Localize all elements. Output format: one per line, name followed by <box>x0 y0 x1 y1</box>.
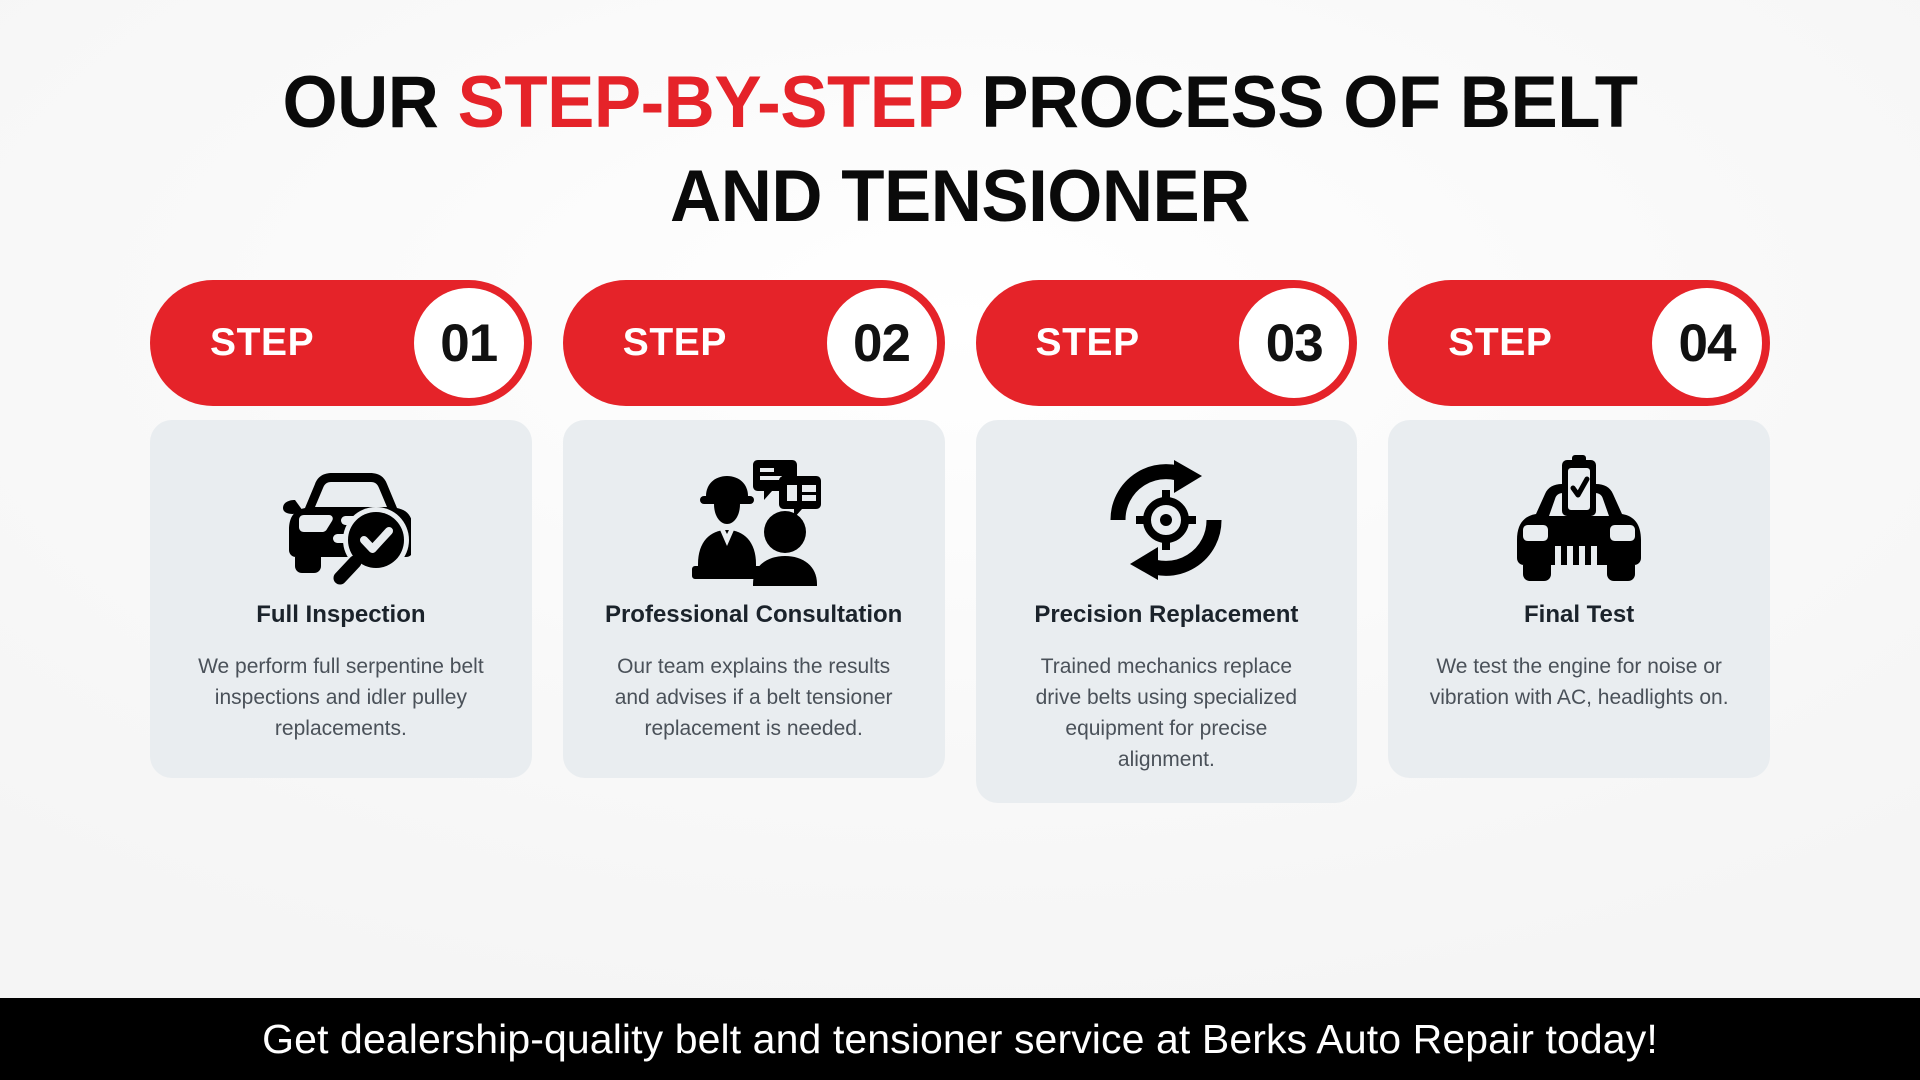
step-card-title-3: Precision Replacement <box>1034 600 1298 630</box>
step-badge-number-3: 03 <box>1266 313 1323 374</box>
step-card-description-2: Our team explains the results and advise… <box>604 651 904 744</box>
step-badge-label-3: STEP <box>1036 321 1240 365</box>
step-card-1: Full Inspection We perform full serpenti… <box>150 420 532 778</box>
step-card-title-1: Full Inspection <box>256 600 425 630</box>
step-badge-number-1: 01 <box>440 313 497 374</box>
step-column-2: STEP 02 <box>563 280 945 803</box>
title-part-post: PROCESS OF BELT <box>962 62 1637 143</box>
car-inspection-magnifier-check-icon <box>176 454 506 586</box>
page-title: OUR STEP-BY-STEP PROCESS OF BELT AND TEN… <box>195 56 1725 244</box>
step-badge-2: STEP 02 <box>563 280 945 406</box>
step-card-description-1: We perform full serpentine belt inspecti… <box>191 651 491 744</box>
step-card-3: Precision Replacement Trained mechanics … <box>976 420 1358 803</box>
step-badge-circle-1: 01 <box>414 288 524 398</box>
infographic-page: OUR STEP-BY-STEP PROCESS OF BELT AND TEN… <box>0 0 1920 1080</box>
step-badge-number-2: 02 <box>853 313 910 374</box>
step-column-4: STEP 04 <box>1388 280 1770 803</box>
footer-cta-text: Get dealership-quality belt and tensione… <box>262 1016 1658 1063</box>
footer-cta-banner: Get dealership-quality belt and tensione… <box>0 998 1920 1080</box>
steps-grid: STEP 01 <box>150 280 1770 803</box>
step-column-1: STEP 01 <box>150 280 532 803</box>
step-badge-3: STEP 03 <box>976 280 1358 406</box>
step-badge-label-2: STEP <box>623 321 827 365</box>
step-column-3: STEP 03 <box>976 280 1358 803</box>
step-badge-number-4: 04 <box>1679 313 1736 374</box>
title-line-1: OUR STEP-BY-STEP PROCESS OF BELT <box>218 56 1702 150</box>
step-badge-label-1: STEP <box>210 321 414 365</box>
step-badge-label-4: STEP <box>1448 321 1652 365</box>
consultation-people-speech-bubble-icon <box>589 454 919 586</box>
step-card-2: Professional Consultation Our team expla… <box>563 420 945 778</box>
title-line-2: AND TENSIONER <box>218 150 1702 244</box>
title-part-highlight: STEP-BY-STEP <box>458 62 962 143</box>
step-card-description-4: We test the engine for noise or vibratio… <box>1429 651 1729 713</box>
step-card-4: Final Test We test the engine for noise … <box>1388 420 1770 778</box>
step-badge-circle-3: 03 <box>1239 288 1349 398</box>
step-badge-1: STEP 01 <box>150 280 532 406</box>
step-badge-circle-4: 04 <box>1652 288 1762 398</box>
circular-arrows-target-crosshair-icon <box>1002 454 1332 586</box>
step-badge-4: STEP 04 <box>1388 280 1770 406</box>
step-card-title-2: Professional Consultation <box>605 600 902 630</box>
step-badge-circle-2: 02 <box>827 288 937 398</box>
step-card-description-3: Trained mechanics replace drive belts us… <box>1016 651 1316 775</box>
title-part-pre: OUR <box>283 62 458 143</box>
step-card-title-4: Final Test <box>1524 600 1634 630</box>
car-front-clipboard-check-icon <box>1414 454 1744 586</box>
